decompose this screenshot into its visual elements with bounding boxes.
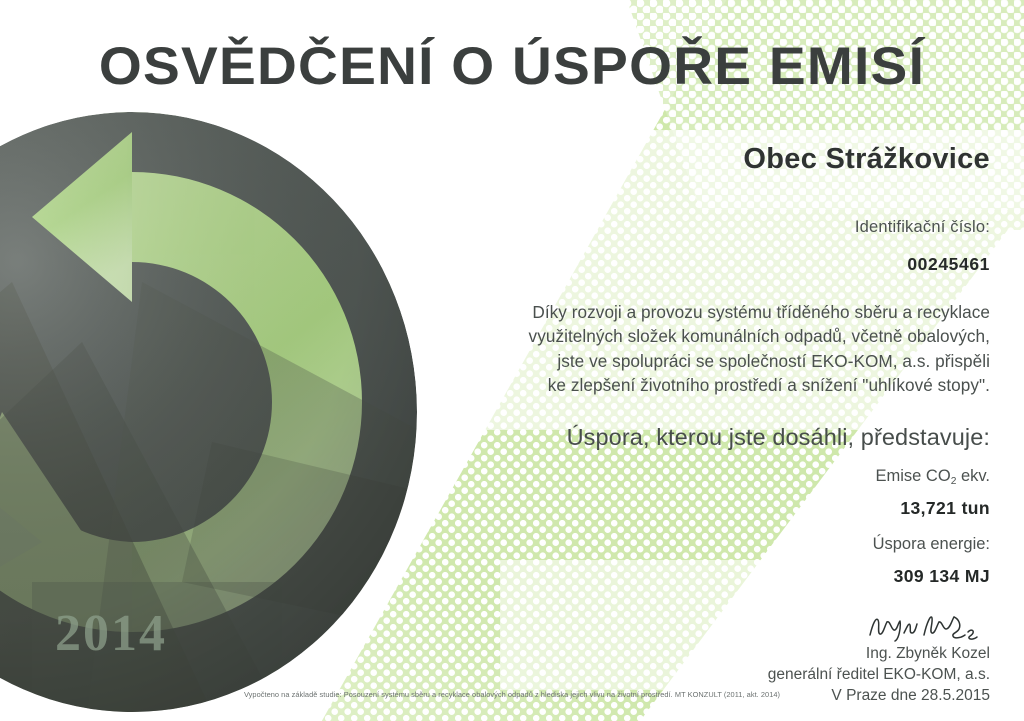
signatory-name: Ing. Zbyněk Kozel <box>370 643 990 664</box>
body-line-2: využitelných složek komunálních odpadů, … <box>370 324 990 348</box>
body-paragraph: Díky rozvoji a provozu systému tříděného… <box>370 300 990 398</box>
co2-emissions-value: 13,721 tun <box>370 498 990 519</box>
co2-label-prefix: Emise CO <box>876 467 951 485</box>
body-line-3: jste ve spolupráci se společností EKO-KO… <box>370 349 990 373</box>
co2-subscript: 2 <box>951 476 957 487</box>
handwritten-signature-icon <box>370 609 990 643</box>
identification-number-value: 00245461 <box>370 254 990 275</box>
certificate-page: 2014 OSVĚDČENÍ O ÚSPOŘE EMISÍ Obec Stráž… <box>0 0 1024 721</box>
body-line-1: Díky rozvoji a provozu systému tříděného… <box>370 300 990 324</box>
signatory-role: generální ředitel EKO-KOM, a.s. <box>370 664 990 685</box>
energy-savings-label: Úspora energie: <box>370 535 990 554</box>
recipient-name: Obec Strážkovice <box>370 143 990 176</box>
identification-number-label: Identifikační číslo: <box>370 218 990 237</box>
co2-label-suffix: ekv. <box>956 467 990 485</box>
content-column: Obec Strážkovice Identifikační číslo: 00… <box>370 0 990 707</box>
co2-emissions-label: Emise CO2 ekv. <box>370 467 990 486</box>
energy-savings-value: 309 134 MJ <box>370 566 990 587</box>
body-line-4: ke zlepšení životního prostředí a snížen… <box>370 373 990 397</box>
year-label: 2014 <box>55 604 167 663</box>
savings-heading: Úspora, kterou jste dosáhli, představuje… <box>370 424 990 451</box>
footnote: Vypočteno na základě studie: Posouzení s… <box>0 690 1024 699</box>
